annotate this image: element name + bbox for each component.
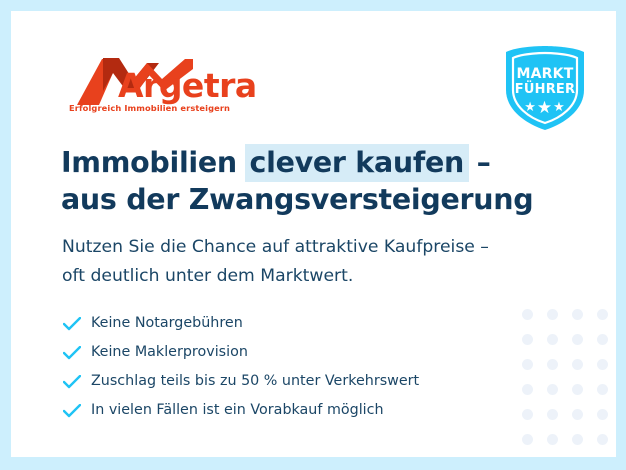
decorative-dot [547,359,558,370]
decorative-dot [597,384,608,395]
decorative-dot [547,309,558,320]
decorative-dot [597,409,608,420]
decorative-dot [522,334,533,345]
headline-line-2: aus der Zwangsversteigerung [61,181,541,218]
shield-icon [500,44,590,132]
list-item-label: Keine Maklerprovision [91,345,248,359]
decorative-dot [597,434,608,445]
argetra-wordmark: Argetra [118,69,257,102]
list-item: In vielen Fällen ist ein Vorabkauf mögli… [63,396,523,425]
argetra-tagline: Erfolgreich Immobilien ersteigern [69,103,230,113]
decorative-dot [572,384,583,395]
list-item: Keine Notargebühren [63,309,523,338]
decorative-dot [547,334,558,345]
decorative-dot [522,434,533,445]
advertisement-banner: Argetra Erfolgreich Immobilien ersteiger… [0,0,626,470]
decorative-dot [597,334,608,345]
decorative-dot [522,309,533,320]
decorative-dot [547,434,558,445]
headline-text-pre: Immobilien [61,146,247,179]
market-leader-badge: MARKT FÜHRER ★★★ [500,44,590,132]
content-card: Argetra Erfolgreich Immobilien ersteiger… [11,11,616,457]
argetra-logo[interactable]: Argetra Erfolgreich Immobilien ersteiger… [67,55,257,117]
list-item-label: In vielen Fällen ist ein Vorabkauf mögli… [91,403,384,417]
subtitle-line-2: oft deutlich unter dem Marktwert. [62,262,562,291]
decorative-dot [572,334,583,345]
check-icon [63,317,91,331]
list-item-label: Keine Notargebühren [91,316,243,330]
decorative-dot [597,359,608,370]
decorative-dot [547,409,558,420]
decorative-dot [522,409,533,420]
decorative-dot [572,409,583,420]
list-item: Keine Maklerprovision [63,338,523,367]
headline-text-post: – [467,146,491,179]
check-icon [63,404,91,418]
decorative-dot [522,359,533,370]
decorative-dot [597,309,608,320]
decorative-dot [522,384,533,395]
check-icon [63,346,91,360]
decorative-dot [572,359,583,370]
headline-line-1: Immobilien clever kaufen – [61,144,541,181]
benefits-list: Keine Notargebühren Keine Maklerprovisio… [63,309,523,425]
headline-highlight: clever kaufen [245,144,469,182]
subtitle-line-1: Nutzen Sie die Chance auf attraktive Kau… [62,233,562,262]
page-subtitle: Nutzen Sie die Chance auf attraktive Kau… [62,233,562,291]
list-item-label: Zuschlag teils bis zu 50 % unter Verkehr… [91,374,419,388]
decorative-dot [572,309,583,320]
page-title: Immobilien clever kaufen – aus der Zwang… [61,144,541,218]
list-item: Zuschlag teils bis zu 50 % unter Verkehr… [63,367,523,396]
decorative-dot [572,434,583,445]
check-icon [63,375,91,389]
decorative-dot-grid [522,309,616,457]
decorative-dot [547,384,558,395]
